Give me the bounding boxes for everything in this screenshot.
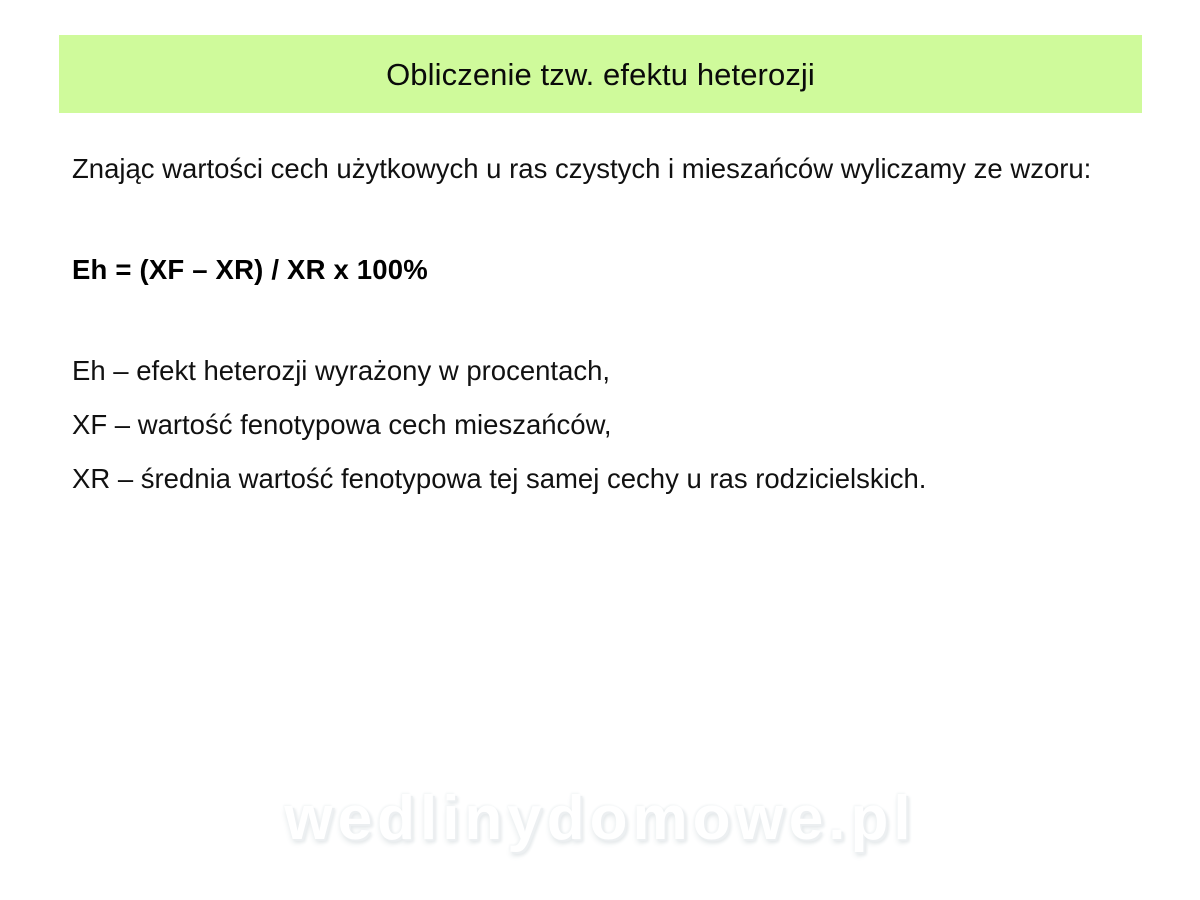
definition-item-eh: Eh – efekt heterozji wyrażony w procenta…: [72, 352, 1092, 389]
spacer-below-formula: [72, 288, 1092, 352]
definition-item-xr: XR – średnia wartość fenotypowa tej same…: [72, 460, 1092, 497]
definition-item-xf: XF – wartość fenotypowa cech mieszańców,: [72, 406, 1092, 443]
title-banner: Obliczenie tzw. efektu heterozji: [59, 35, 1142, 113]
spacer-above-formula: [72, 187, 1092, 251]
slide-body: Znając wartości cech użytkowych u ras cz…: [72, 150, 1092, 497]
slide-canvas: Obliczenie tzw. efektu heterozji Znając …: [0, 0, 1200, 900]
heterosis-formula: Eh = (XF – XR) / XR x 100%: [72, 251, 1092, 288]
watermark: wedlinydomowe.pl: [0, 788, 1200, 850]
page-title: Obliczenie tzw. efektu heterozji: [386, 59, 815, 90]
definition-list: Eh – efekt heterozji wyrażony w procenta…: [72, 352, 1092, 497]
intro-paragraph: Znając wartości cech użytkowych u ras cz…: [72, 150, 1133, 187]
